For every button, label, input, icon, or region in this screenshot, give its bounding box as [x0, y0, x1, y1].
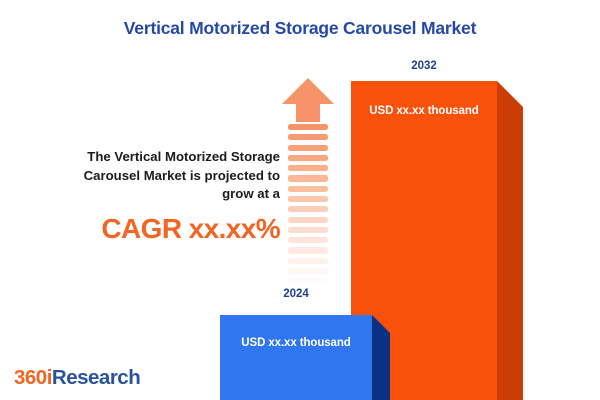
arrow-segment-14 [288, 258, 328, 264]
market-infographic: Vertical Motorized Storage Carousel Mark… [0, 0, 600, 400]
arrow-segment-5 [288, 165, 328, 171]
logo-text-360i: 360i [14, 366, 52, 389]
arrow-segment-15 [288, 268, 328, 274]
growth-arrow-icon [282, 78, 334, 296]
brand-logo: 360iResearch [14, 366, 140, 390]
arrow-segment-4 [288, 155, 328, 161]
arrow-head-icon [282, 78, 334, 122]
arrow-segment-13 [288, 247, 328, 253]
bar-forecast-value-label: USD xx.xx thousand [351, 105, 497, 117]
bar-forecast-year-label: 2032 [351, 60, 497, 72]
arrow-fade-segments [288, 124, 328, 296]
arrow-segment-2 [288, 134, 328, 140]
arrow-segment-12 [288, 237, 328, 243]
page-title: Vertical Motorized Storage Carousel Mark… [0, 18, 600, 39]
arrow-segment-1 [288, 124, 328, 130]
arrow-segment-9 [288, 206, 328, 212]
arrow-segment-7 [288, 186, 328, 192]
statement-line-1: The Vertical Motorized Storage [22, 148, 280, 167]
logo-text-research: Research [52, 366, 140, 389]
bar-base-front-face [220, 315, 372, 400]
cagr-statement: The Vertical Motorized Storage Carousel … [22, 148, 280, 243]
arrow-segment-11 [288, 227, 328, 233]
statement-line-2: Carousel Market is projected to [22, 167, 280, 186]
bar-base-year-label: 2024 [220, 288, 372, 300]
statement-line-3: grow at a [22, 185, 280, 204]
cagr-value: CAGR xx.xx% [22, 215, 280, 243]
arrow-segment-10 [288, 217, 328, 223]
bar-base-value-label: USD xx.xx thousand [220, 337, 372, 349]
arrow-segment-16 [288, 278, 328, 284]
arrow-segment-6 [288, 175, 328, 181]
arrow-segment-3 [288, 145, 328, 151]
bar-base-2024[interactable]: USD xx.xx thousand [220, 315, 390, 400]
arrow-segment-8 [288, 196, 328, 202]
